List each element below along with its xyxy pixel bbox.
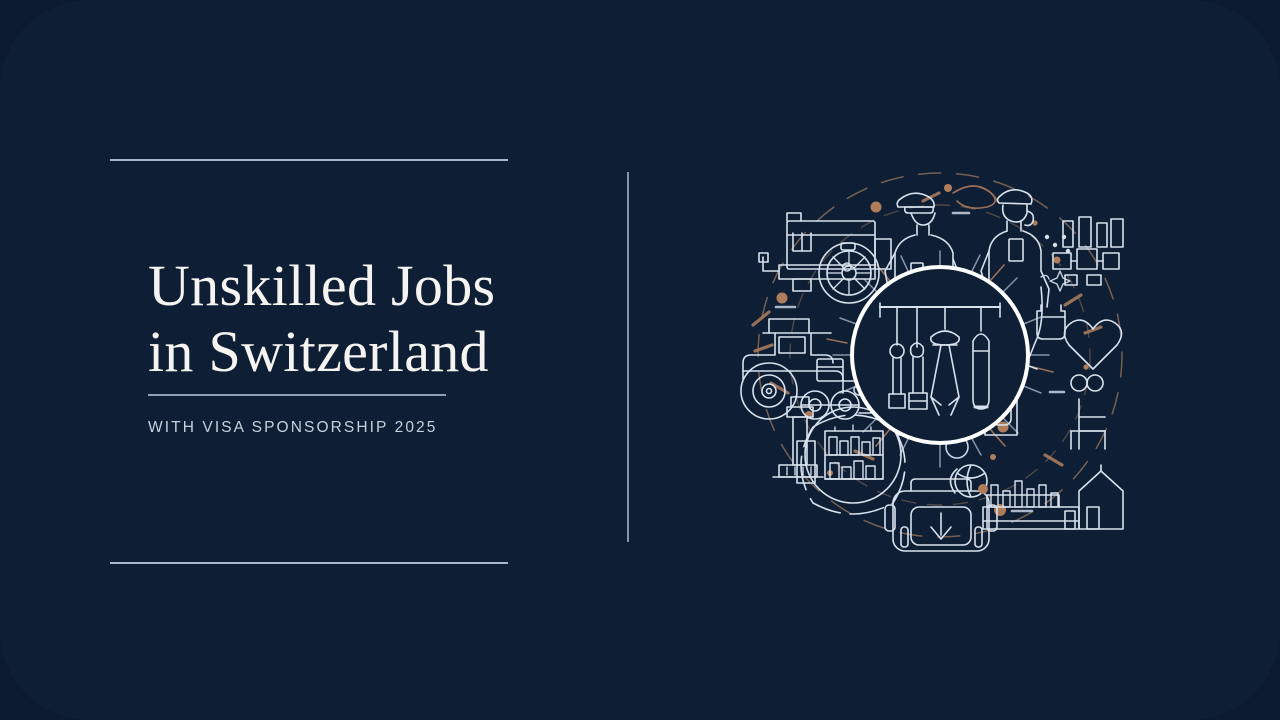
heart-icon bbox=[1064, 320, 1121, 369]
slide-content: Unskilled Jobs in Switzerland WITH VISA … bbox=[0, 0, 1280, 720]
globe-swirl-icon bbox=[950, 465, 988, 497]
magnifier-tools-icon bbox=[852, 267, 1028, 443]
vertical-divider bbox=[627, 172, 629, 542]
title-block: Unskilled Jobs in Switzerland WITH VISA … bbox=[110, 150, 510, 570]
rule-under-title bbox=[148, 394, 446, 396]
rule-bottom bbox=[110, 562, 508, 564]
rings-icon bbox=[1071, 375, 1103, 391]
presentation-slide: Unskilled Jobs in Switzerland WITH VISA … bbox=[0, 0, 1280, 720]
illustration-collage bbox=[735, 155, 1145, 565]
title-line-1: Unskilled Jobs bbox=[148, 253, 528, 319]
swirl-accent bbox=[953, 186, 997, 208]
rule-top bbox=[110, 159, 508, 161]
page-title: Unskilled Jobs in Switzerland bbox=[148, 253, 528, 385]
scaffolding-shapes-icon bbox=[1053, 217, 1123, 285]
subtitle: WITH VISA SPONSORSHIP 2025 bbox=[148, 419, 437, 437]
title-line-2: in Switzerland bbox=[148, 319, 528, 385]
dots-cluster bbox=[1045, 235, 1070, 253]
